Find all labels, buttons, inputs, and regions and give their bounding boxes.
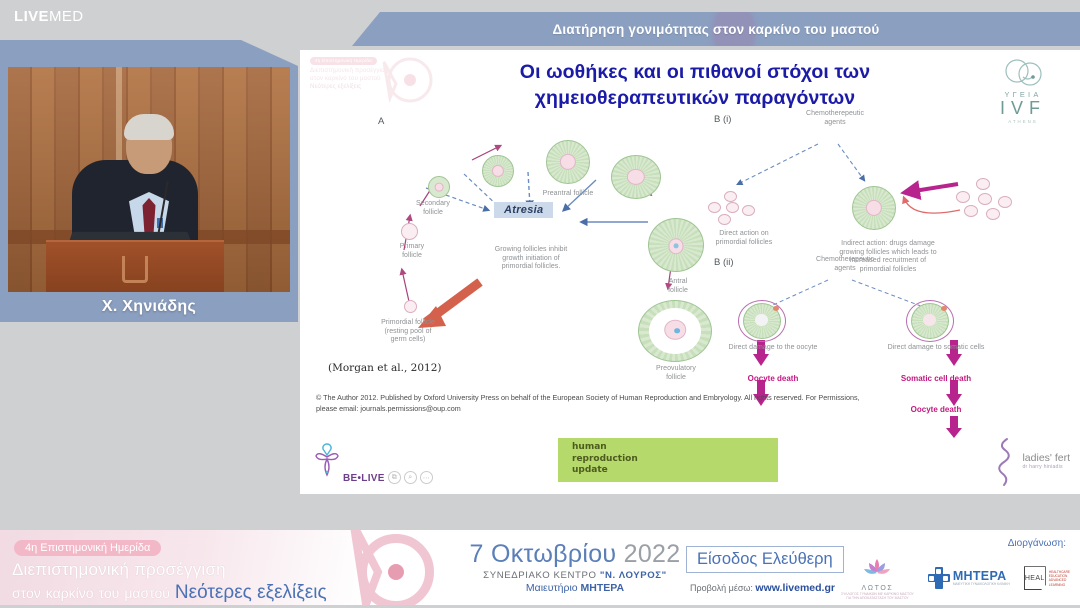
ladies-fert-sub: dr harry hiniadis — [1022, 465, 1070, 471]
ivf-rings-icon — [1000, 58, 1046, 88]
label-primary-follicle: Primary follicle — [378, 243, 446, 260]
label-bi-chemo-agents: Chemotherepeutic agents — [780, 110, 890, 127]
watermark-line-3: Νεότερες εξελίξεις — [310, 83, 361, 90]
watermark-pill: 4η Επιστημονική Ημερίδα — [310, 57, 377, 65]
belive-mark-icon — [314, 442, 340, 482]
footer-organizers-label: Διοργάνωση: — [1008, 538, 1066, 549]
label-oocyte-death-right: Oocyte death — [856, 405, 1016, 414]
footer-line2-word-2: καρκίνο — [46, 585, 94, 601]
slide-title: Οι ωοθήκες και οι πιθανοί στόχοι των χημ… — [410, 59, 980, 111]
player-stage: LIVEMED Διατήρηση γονιμότητας στον καρκί… — [0, 0, 1080, 608]
brand-light: MED — [49, 8, 84, 25]
belive-wordmark: BE•LIVE — [343, 473, 385, 484]
speaker-video-frame[interactable] — [8, 67, 290, 292]
mitera-cross-icon — [928, 567, 950, 589]
ygeia-ivf-logo: ΥΓΕΙΑ IVF ATHENS — [974, 58, 1072, 130]
bii-left-oocyte-graphic — [738, 300, 786, 342]
copy-icon[interactable]: ⧉ — [388, 471, 401, 484]
bi-recruited-1 — [976, 178, 990, 190]
footer-venue-line-2: Μαιευτήριο ΜΗΤΕΡΑ — [465, 582, 685, 594]
footer-watch-url[interactable]: www.livemed.gr — [755, 582, 835, 594]
mitera-logo: ΜΗΤΕΡΑ ΜΑΙΕΥΤΙΚΗ ΓΥΝΑΙΚΟΛΟΓΙΚΗ ΚΛΙΝΙΚΗ — [928, 567, 1010, 589]
ivf-sub-text: ATHENS — [1008, 119, 1037, 124]
footer-organizer-logos: ΛΩΤΟΣ ΣΥΛΛΟΓΟΣ ΓΥΝΑΙΚΩΝ ΜΕ ΚΑΡΚΙΝΟ ΜΑΣΤΟ… — [841, 556, 1070, 601]
livemed-logo: LIVEMED — [14, 8, 84, 25]
footer-ribbon-circles — [348, 528, 468, 608]
slide-area[interactable]: 4η Επιστημονική Ημερίδα Διεπιστημονική π… — [300, 50, 1080, 494]
footer-line2-highlight: Νεότερες εξελίξεις — [175, 582, 327, 604]
label-preantral-follicle: Preantral follicle — [514, 190, 622, 199]
lotos-logo: ΛΩΤΟΣ ΣΥΛΛΟΓΟΣ ΓΥΝΑΙΚΩΝ ΜΕ ΚΑΡΚΙΝΟ ΜΑΣΤΟ… — [841, 556, 914, 601]
footer-maternity-name: ΜΗΤΕΡΑ — [581, 582, 625, 594]
primordial-follicle-graphic — [404, 300, 417, 313]
label-growth-inhibition: Growing follicles inhibit growth initiat… — [466, 246, 596, 272]
slide-title-line-2: χημειοθεραπευτικών παραγόντων — [410, 85, 980, 111]
bi-recruited-4 — [998, 196, 1012, 208]
footer-venue-line-1: ΣΥΝΕΔΡΙΑΚΟ ΚΕΝΤΡΟ "Ν. ΛΟΥΡΟΣ" — [465, 570, 685, 581]
speaker-video-panel[interactable]: Χ. Χηνιάδης — [0, 40, 298, 322]
footer-maternity-label: Μαιευτήριο — [526, 582, 581, 594]
bi-primordial-1 — [724, 191, 737, 202]
bi-recruited-2 — [956, 191, 970, 203]
lotos-sub-2: ΓΙΑ ΤΗΝ ΑΠΟΚΑΤΑΣΤΑΣΗ ΤΟΥ ΜΑΣΤΟΥ — [841, 596, 914, 600]
presentation-title: Διατήρηση γονιμότητας στον καρκίνο του μ… — [553, 22, 880, 37]
human-reproduction-update-badge: human reproduction update — [558, 438, 778, 482]
ladies-fert-logo: ladies' fert dr harry hiniadis — [992, 436, 1070, 488]
footer-event-pill: 4η Επιστημονική Ημερίδα — [14, 540, 161, 556]
bi-primordial-2 — [708, 202, 721, 213]
footer-date-year: 2022 — [624, 540, 681, 568]
early-growing-follicle-graphic — [482, 155, 514, 187]
primary-follicle-graphic — [401, 223, 418, 240]
belive-logo-group: BE•LIVE ⧉ ⌕ ⋯ — [314, 442, 433, 484]
ladies-fert-swirl-icon — [992, 436, 1018, 488]
bi-recruited-3 — [978, 193, 992, 205]
ladies-fert-text: ladies' fert dr harry hiniadis — [1022, 453, 1070, 470]
slide-copyright: © The Author 2012. Published by Oxford U… — [316, 392, 876, 414]
brand-bold: LIVE — [14, 8, 49, 25]
footer-line2-word-4: μαστού — [124, 585, 170, 601]
footer-date: 7 Οκτωβρίου 2022 — [465, 540, 685, 569]
ivf-main-text: IVF — [1000, 99, 1046, 117]
more-icon[interactable]: ⋯ — [420, 471, 433, 484]
panel-bi-letter: B (i) — [714, 114, 731, 125]
speaker-name-label: Χ. Χηνιάδης — [0, 298, 298, 316]
footer-ribbon-icon — [348, 528, 468, 608]
footer-line2-word-1: στον — [12, 585, 41, 601]
label-bii-left-damage: Direct damage to the oocyte — [698, 344, 848, 353]
footer-free-entry: Είσοδος Ελεύθερη — [686, 546, 844, 573]
label-secondary-follicle: Secondary follicle — [394, 200, 472, 217]
heal-tagline: HEALTHCARE EDUCATION ADVANCED LEARNING — [1049, 570, 1070, 587]
presentation-header-band: Διατήρηση γονιμότητας στον καρκίνο του μ… — [352, 12, 1080, 46]
bi-primordial-3 — [726, 202, 739, 213]
search-icon[interactable]: ⌕ — [404, 471, 417, 484]
bi-growing-follicle — [852, 186, 896, 230]
panel-bii-letter: B (ii) — [714, 257, 734, 268]
heal-mark: HEAL — [1024, 566, 1046, 590]
bii-right-oocyte-graphic — [906, 300, 954, 342]
bi-recruited-6 — [986, 208, 1000, 220]
preantral-follicle-graphic — [546, 140, 590, 184]
slide-citation: (Morgan et al., 2012) — [328, 362, 442, 374]
footer-venue-name: "Ν. ΛΟΥΡΟΣ" — [600, 570, 667, 581]
footer-line2-word-3: του — [99, 585, 120, 601]
footer-date-block: 7 Οκτωβρίου 2022 ΣΥΝΕΔΡΙΑΚΟ ΚΕΝΤΡΟ "Ν. Λ… — [465, 540, 685, 594]
lotos-name: ΛΩΤΟΣ — [841, 585, 914, 592]
label-somatic-cell-death: Somatic cell death — [856, 374, 1016, 383]
atresia-box: Atresia — [494, 202, 553, 218]
label-antral-follicle: Antral follicle — [650, 278, 706, 295]
secondary-follicle-graphic — [428, 176, 450, 198]
footer-event-line-1: Διεπιστημονική προσέγγιση — [12, 560, 226, 580]
footer-watch-line: Προβολή μέσω: www.livemed.gr — [690, 582, 835, 594]
heal-line-4: LEARNING — [1049, 583, 1070, 587]
belive-icon-row[interactable]: ⧉ ⌕ ⋯ — [388, 471, 433, 484]
bi-recruited-5 — [964, 205, 978, 217]
footer-event-line-2: στον καρκίνο του μαστού Νεότερες εξελίξε… — [12, 582, 327, 604]
label-bi-direct-action: Direct action on primordial follicles — [692, 230, 796, 247]
slide-title-line-1: Οι ωοθήκες και οι πιθανοί στόχοι των — [410, 59, 980, 85]
podium — [46, 240, 224, 292]
bi-primordial-4 — [742, 205, 755, 216]
bi-primordial-5 — [718, 214, 731, 225]
label-oocyte-death-left: Oocyte death — [698, 374, 848, 383]
label-bii-right-damage: Direct damage to somatic cells — [856, 344, 1016, 353]
label-primordial-follicle: Primordial follicle (resting pool of ger… — [360, 319, 456, 345]
event-footer-banner: 4η Επιστημονική Ημερίδα Διεπιστημονική π… — [0, 528, 1080, 608]
mitera-sub: ΜΑΙΕΥΤΙΚΗ ΓΥΝΑΙΚΟΛΟΓΙΚΗ ΚΛΙΝΙΚΗ — [953, 583, 1010, 586]
mitera-text: ΜΗΤΕΡΑ ΜΑΙΕΥΤΙΚΗ ΓΥΝΑΙΚΟΛΟΓΙΚΗ ΚΛΙΝΙΚΗ — [953, 570, 1010, 586]
speaker-hair — [124, 114, 174, 140]
heal-logo: HEAL HEALTHCARE EDUCATION ADVANCED LEARN… — [1024, 566, 1070, 590]
footer-venue-prefix: ΣΥΝΕΔΡΙΑΚΟ ΚΕΝΤΡΟ — [483, 570, 600, 581]
lotus-flower-icon — [862, 556, 892, 580]
footer-date-day: 7 Οκτωβρίου — [470, 540, 624, 568]
footer-watch-label: Προβολή μέσω: — [690, 583, 755, 593]
